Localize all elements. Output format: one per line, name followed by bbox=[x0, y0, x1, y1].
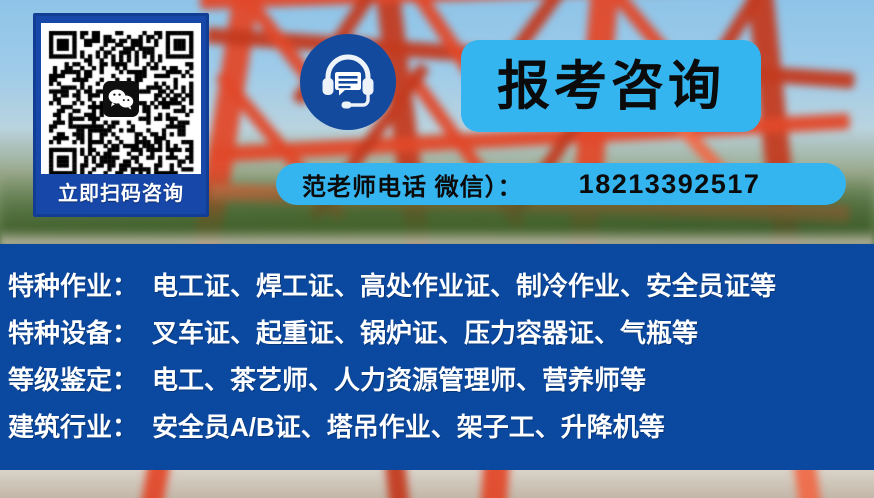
contact-label: 范老师电话 微信）： bbox=[302, 167, 523, 202]
contact-number[interactable]: 18213392517 bbox=[579, 169, 761, 200]
contact-banner[interactable]: 范老师电话 微信）： 18213392517 bbox=[276, 163, 846, 205]
crane-structure-bottom bbox=[0, 470, 874, 498]
info-row-category: 建筑行业： bbox=[8, 407, 138, 444]
qr-code-card[interactable]: 立即扫码咨询 bbox=[33, 13, 209, 217]
info-row-grade-assessment: 等级鉴定： 电工、茶艺师、人力资源管理师、营养师等 bbox=[0, 360, 874, 407]
info-row-items: 叉车证、起重证、锅炉证、压力容器证、气瓶等 bbox=[152, 313, 698, 350]
certification-list-panel: 特种作业： 电工证、焊工证、高处作业证、制冷作业、安全员证等 特种设备： 叉车证… bbox=[0, 244, 874, 470]
wechat-icon bbox=[103, 81, 139, 117]
info-row-category: 等级鉴定： bbox=[8, 360, 138, 397]
info-row-special-equipment: 特种设备： 叉车证、起重证、锅炉证、压力容器证、气瓶等 bbox=[0, 313, 874, 360]
info-row-special-operations: 特种作业： 电工证、焊工证、高处作业证、制冷作业、安全员证等 bbox=[0, 266, 874, 313]
info-row-construction-industry: 建筑行业： 安全员A/B证、塔吊作业、架子工、升降机等 bbox=[0, 407, 874, 454]
title-banner: 报考咨询 bbox=[461, 40, 761, 132]
info-row-category: 特种作业： bbox=[8, 266, 138, 303]
advertisement-poster: 立即扫码咨询 报考咨询 范老师电话 微信）： 18213392517 bbox=[0, 0, 874, 498]
info-row-category: 特种设备： bbox=[8, 313, 138, 350]
info-row-items: 电工、茶艺师、人力资源管理师、营养师等 bbox=[152, 360, 646, 397]
background-photo-bottom bbox=[0, 470, 874, 498]
headset-support-icon bbox=[300, 34, 396, 130]
info-row-items: 电工证、焊工证、高处作业证、制冷作业、安全员证等 bbox=[152, 266, 776, 303]
info-row-items: 安全员A/B证、塔吊作业、架子工、升降机等 bbox=[152, 407, 665, 444]
title-banner-text: 报考咨询 bbox=[497, 60, 725, 113]
qr-code-image[interactable] bbox=[41, 23, 201, 174]
qr-code-label: 立即扫码咨询 bbox=[58, 174, 184, 214]
